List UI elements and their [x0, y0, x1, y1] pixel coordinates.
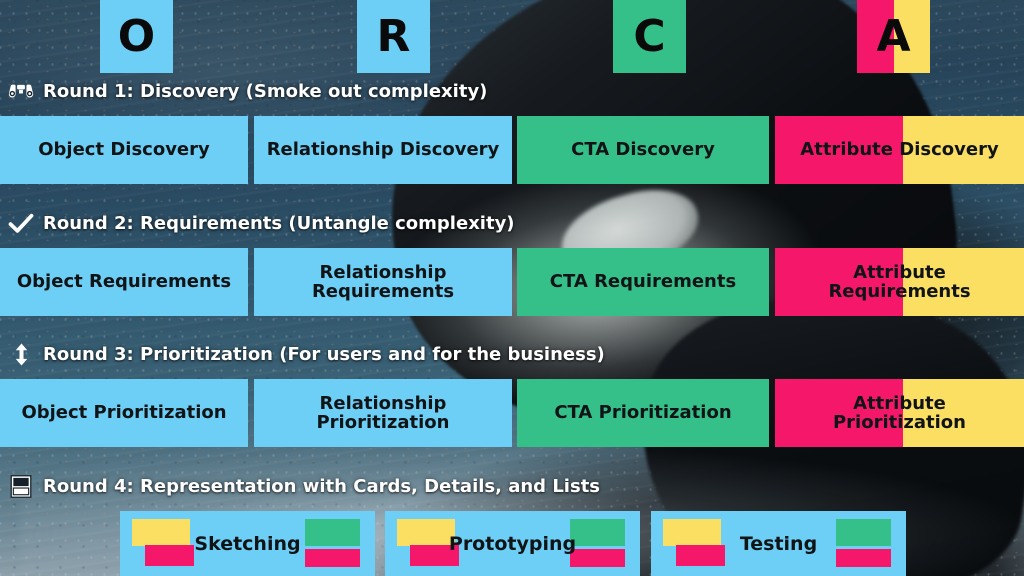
green-pink-card-icon: [570, 519, 628, 567]
letter-tile-c-glyph: C: [633, 15, 665, 59]
card-icon-bottom: [570, 549, 625, 567]
cell-attribute-requirements[interactable]: AttributeRequirements: [775, 248, 1024, 316]
letter-tile-a-glyph: A: [876, 15, 910, 59]
box-prototyping[interactable]: Prototyping: [385, 511, 640, 576]
box-testing-label: Testing: [740, 533, 817, 555]
letter-tile-o-glyph: O: [118, 15, 155, 59]
card-icon-bottom: [676, 545, 725, 566]
cell-cta-prioritization[interactable]: CTA Prioritization: [517, 379, 769, 447]
orca-acronym: ORCA: [0, 0, 1024, 75]
card-detail-icon: [8, 475, 34, 497]
round-3-row: Object PrioritizationRelationshipPriorit…: [0, 379, 1024, 447]
green-pink-card-icon: [305, 519, 363, 567]
cell-attribute-discovery-label: Attribute Discovery: [794, 140, 1004, 159]
cell-attribute-prioritization[interactable]: AttributePrioritization: [775, 379, 1024, 447]
cell-attribute-requirements-label: AttributeRequirements: [822, 263, 976, 302]
cell-attribute-discovery[interactable]: Attribute Discovery: [775, 116, 1024, 184]
round-1-heading: Round 1: Discovery (Smoke out complexity…: [8, 80, 487, 102]
box-sketching-label: Sketching: [194, 533, 300, 555]
box-sketching[interactable]: Sketching: [120, 511, 375, 576]
cell-object-discovery[interactable]: Object Discovery: [0, 116, 248, 184]
cell-cta-requirements-label: CTA Requirements: [544, 272, 742, 291]
letter-tile-a: A: [857, 0, 930, 73]
round-2-heading: Round 2: Requirements (Untangle complexi…: [8, 212, 515, 234]
cell-relationship-discovery[interactable]: Relationship Discovery: [254, 116, 512, 184]
card-icon-bottom: [836, 549, 891, 567]
card-icon-top: [836, 519, 891, 546]
green-pink-card-icon: [836, 519, 894, 567]
round-1-heading-text: Round 1: Discovery (Smoke out complexity…: [43, 81, 487, 102]
card-icon-top: [132, 519, 190, 546]
card-icon-top: [663, 519, 721, 546]
box-prototyping-label: Prototyping: [449, 533, 576, 555]
box-testing[interactable]: Testing: [651, 511, 906, 576]
cell-relationship-requirements-label: RelationshipRequirements: [306, 263, 460, 302]
cell-cta-discovery-label: CTA Discovery: [565, 140, 721, 159]
cell-relationship-prioritization[interactable]: RelationshipPrioritization: [254, 379, 512, 447]
yellow-pink-card-icon: [132, 519, 194, 567]
cell-object-discovery-label: Object Discovery: [32, 140, 216, 159]
round-4-heading: Round 4: Representation with Cards, Deta…: [8, 475, 600, 497]
round-3-heading-text: Round 3: Prioritization (For users and f…: [43, 344, 605, 365]
letter-tile-r-glyph: R: [377, 15, 411, 59]
cell-object-requirements-label: Object Requirements: [11, 272, 237, 291]
card-icon-bottom: [305, 549, 360, 567]
round-2-row: Object RequirementsRelationshipRequireme…: [0, 248, 1024, 316]
cell-object-requirements[interactable]: Object Requirements: [0, 248, 248, 316]
letter-tile-o: O: [100, 0, 173, 73]
round-2-heading-text: Round 2: Requirements (Untangle complexi…: [43, 213, 515, 234]
letter-tile-c: C: [613, 0, 686, 73]
yellow-pink-card-icon: [663, 519, 725, 567]
round-1-row: Object DiscoveryRelationship DiscoveryCT…: [0, 116, 1024, 184]
cell-relationship-prioritization-label: RelationshipPrioritization: [310, 394, 455, 433]
card-icon-top: [397, 519, 455, 546]
card-icon-top: [305, 519, 360, 546]
card-icon-top: [570, 519, 625, 546]
cell-relationship-discovery-label: Relationship Discovery: [261, 140, 506, 159]
letter-tile-r: R: [357, 0, 430, 73]
orca-process-slide: ORCA Round 1: Discovery (Smoke out compl…: [0, 0, 1024, 576]
round-4-heading-text: Round 4: Representation with Cards, Deta…: [43, 476, 600, 497]
cell-object-prioritization-label: Object Prioritization: [15, 403, 232, 422]
up-down-arrow-icon: [8, 343, 34, 365]
checkmark-icon: [8, 212, 34, 234]
card-icon-bottom: [145, 545, 194, 566]
round-3-heading: Round 3: Prioritization (For users and f…: [8, 343, 605, 365]
cell-attribute-prioritization-label: AttributePrioritization: [827, 394, 972, 433]
cell-cta-prioritization-label: CTA Prioritization: [548, 403, 737, 422]
cell-relationship-requirements[interactable]: RelationshipRequirements: [254, 248, 512, 316]
cell-object-prioritization[interactable]: Object Prioritization: [0, 379, 248, 447]
cell-cta-discovery[interactable]: CTA Discovery: [517, 116, 769, 184]
cell-cta-requirements[interactable]: CTA Requirements: [517, 248, 769, 316]
binoculars-icon: [8, 80, 34, 102]
